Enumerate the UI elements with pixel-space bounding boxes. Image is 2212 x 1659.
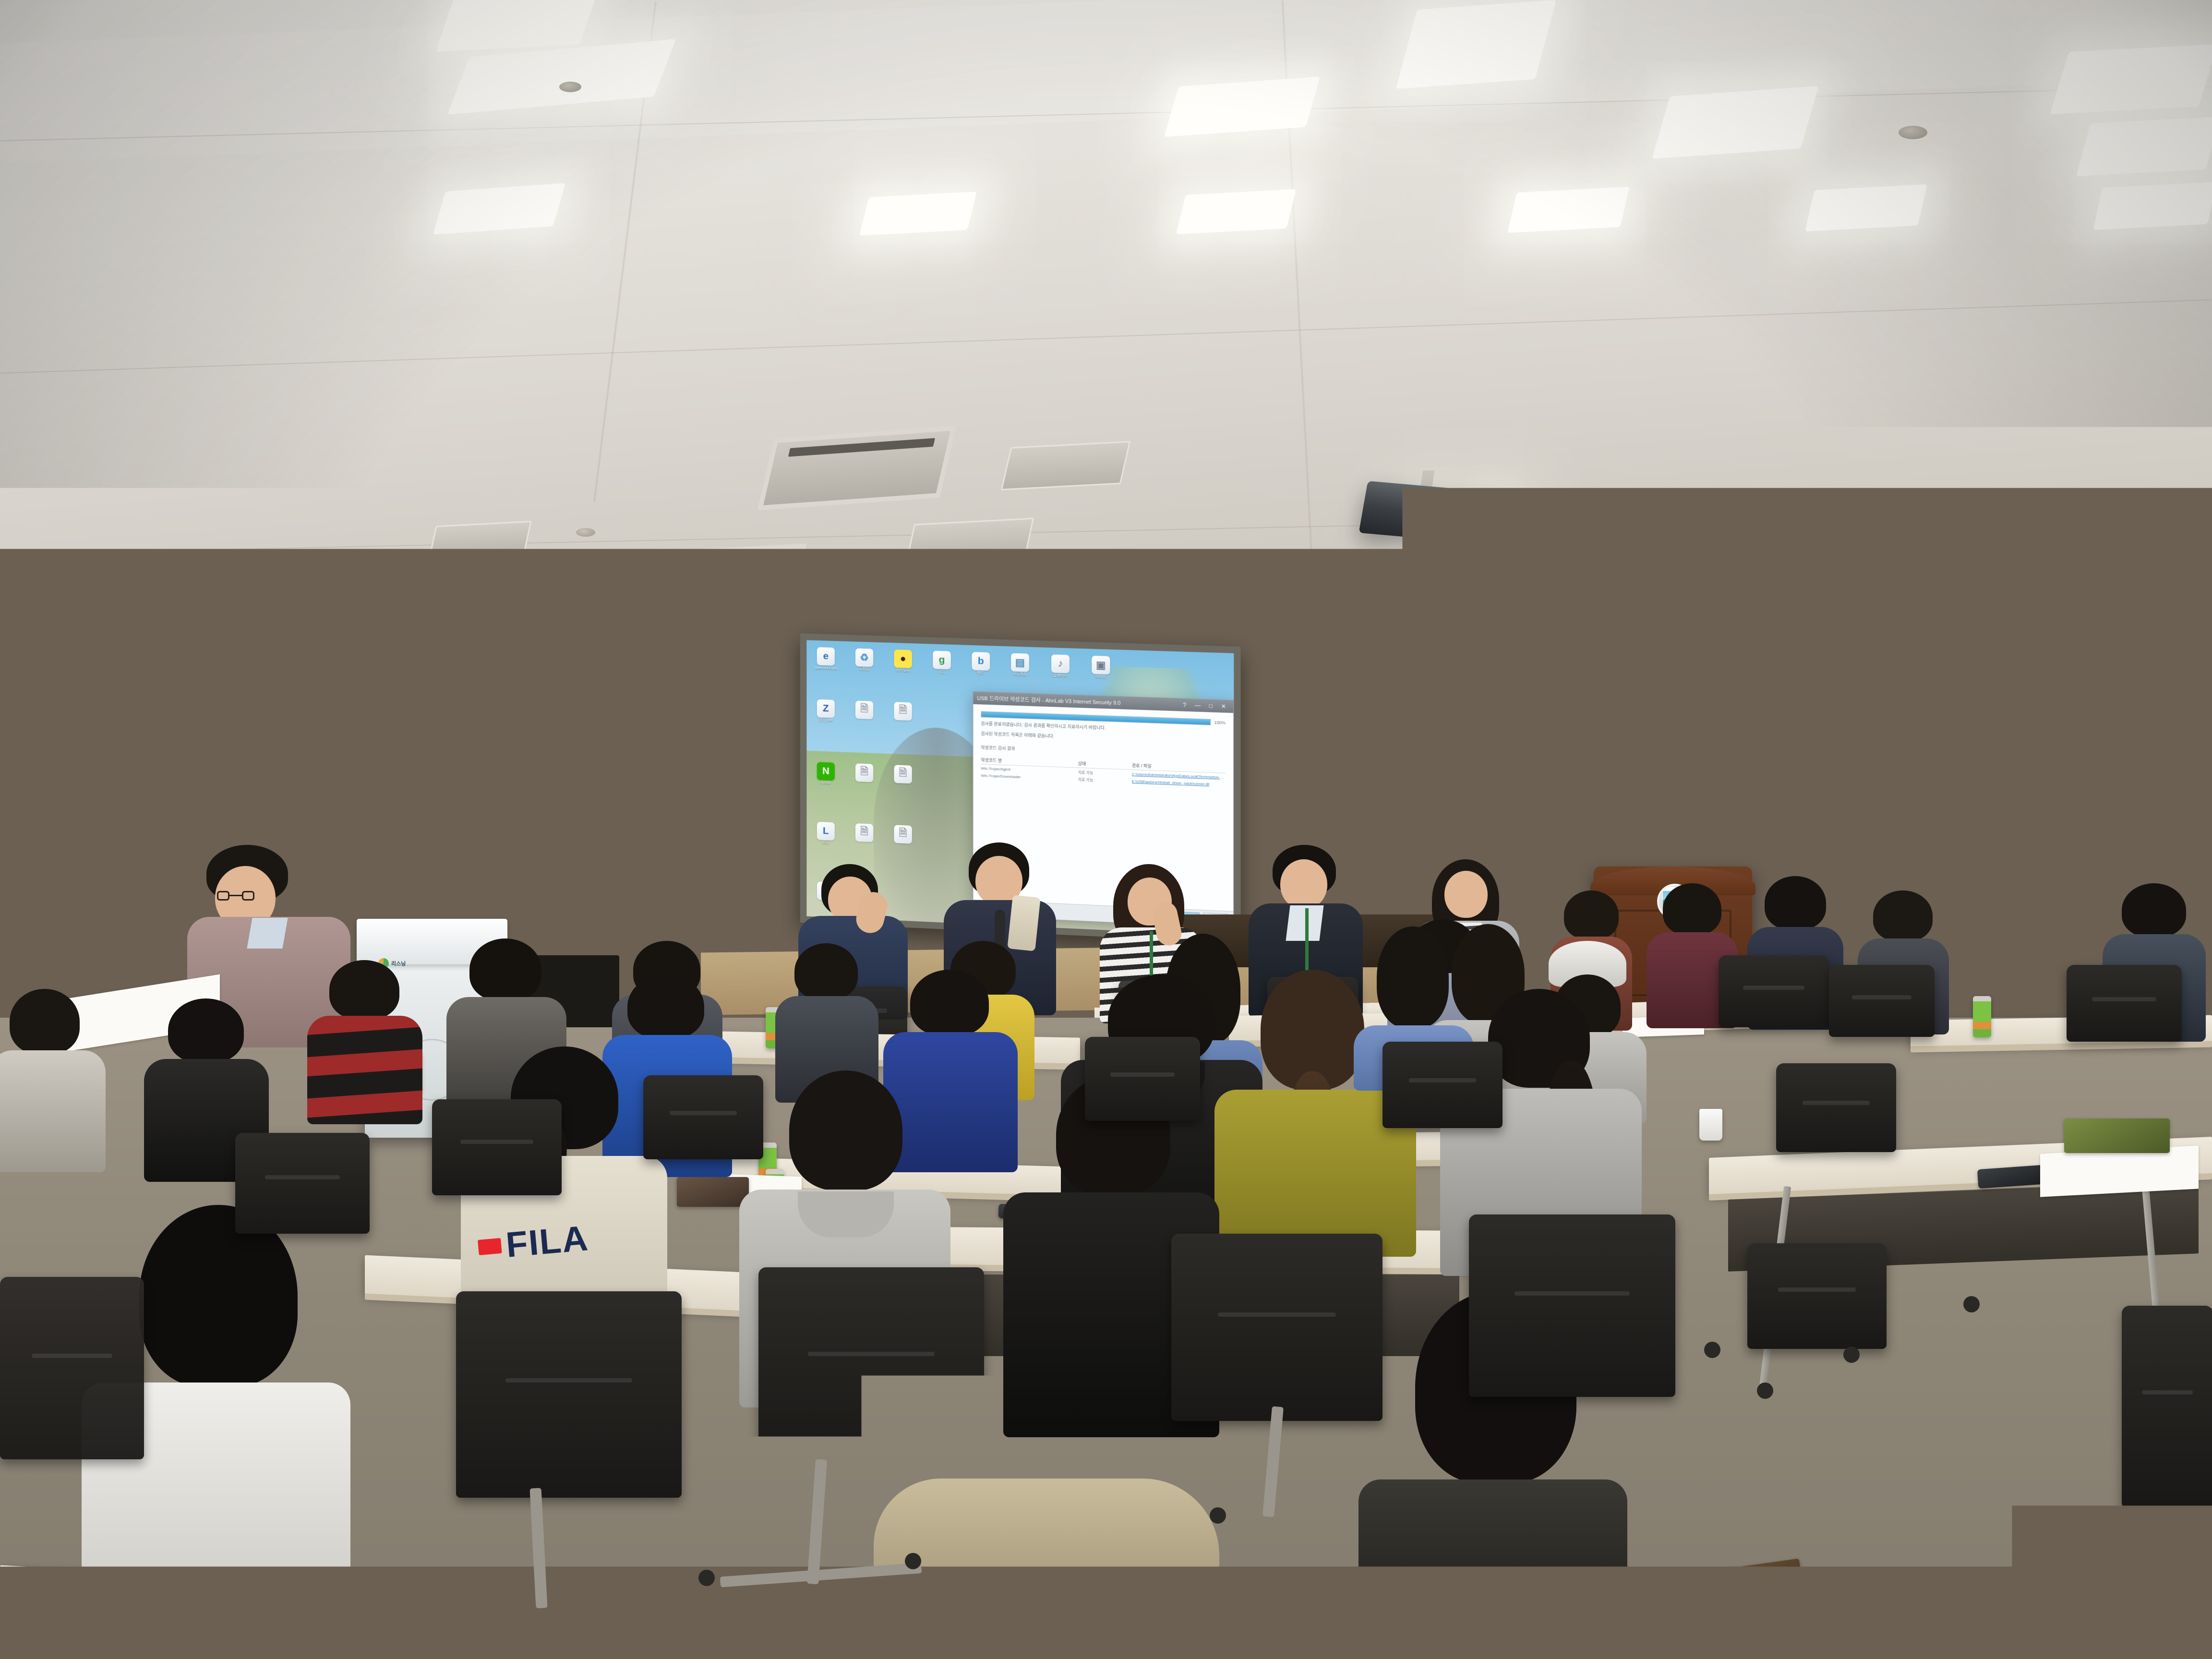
ceiling-air-vent — [1001, 441, 1131, 490]
handout-sheet — [2040, 1145, 2199, 1197]
desktop-icon-label: Internet Explorer — [815, 666, 837, 671]
interior-window — [638, 682, 797, 845]
ceiling-panel-light — [1507, 187, 1629, 233]
chair-caster — [1210, 1507, 1226, 1524]
audience-chair[interactable] — [235, 1133, 370, 1234]
hair — [469, 938, 541, 1001]
hangul-icon: L — [817, 822, 835, 841]
ceiling-air-vent — [428, 521, 531, 560]
chair-caster — [905, 1553, 921, 1569]
face — [1280, 859, 1327, 909]
chair-caster — [1503, 1483, 1519, 1500]
desktop-icon[interactable]: ▣ 이미지 — [1090, 656, 1112, 680]
desktop-icon[interactable]: ▤ 스토리지 — [1009, 653, 1031, 677]
smoke-detector-icon — [1899, 126, 1927, 139]
audience-chair[interactable] — [1829, 965, 1935, 1037]
ceiling-ac-unit — [757, 426, 957, 511]
door-knob-icon[interactable] — [2025, 951, 2036, 962]
desktop-icon[interactable]: e Internet Explorer — [815, 647, 837, 671]
desktop-icon[interactable]: b 밴드 — [970, 652, 992, 676]
desktop-icon-label: 스토리지 — [1009, 672, 1031, 677]
hair — [1564, 890, 1619, 939]
glasses-right-lens-icon — [242, 891, 254, 901]
cell-status: 치료 가능 — [1078, 769, 1132, 777]
storage-icon: ▤ — [1011, 653, 1029, 672]
wall-speaker — [682, 558, 794, 630]
window-controls[interactable]: ? — □ ✕ — [1183, 702, 1229, 710]
desktop-icon-label: 네이버 — [815, 781, 837, 786]
image-viewer-icon: ▣ — [1092, 656, 1110, 674]
audience-member-khaki-coat — [874, 1479, 1219, 1659]
media-player-icon: ♪ — [1051, 654, 1070, 673]
beverage-can — [751, 1596, 776, 1659]
shirt-collar — [1286, 905, 1323, 941]
flag-trigram — [569, 947, 603, 949]
flag-trigram — [573, 832, 601, 834]
col-status: 상태 — [1078, 760, 1132, 768]
window-pane — [647, 762, 714, 837]
desktop-icon-label: 밴드 — [970, 671, 992, 676]
audience-chair[interactable] — [1469, 1214, 1675, 1397]
seminar-room-photo: ↗ — [0, 0, 2212, 1659]
recycle-bin-icon: ♻ — [855, 648, 873, 667]
hair — [10, 989, 80, 1054]
desktop-icon[interactable]: 🗎 — [892, 765, 914, 789]
cell-status: 치료 가능 — [1078, 777, 1132, 784]
wall-seam — [384, 629, 386, 936]
torso — [0, 1050, 106, 1172]
col-name: 악성코드 명 — [981, 757, 1078, 767]
water-bottle — [490, 1579, 517, 1636]
audience-chair[interactable] — [758, 1267, 984, 1469]
audience-chair[interactable] — [1085, 1037, 1200, 1121]
audience-chair[interactable] — [456, 1291, 682, 1498]
ceiling-panel-light — [2050, 44, 2212, 114]
paper-cup — [1699, 1109, 1722, 1141]
ceiling-panel-light — [859, 192, 977, 236]
smoke-detector-icon — [576, 528, 595, 537]
ceiling-panel-light — [435, 0, 599, 52]
hood — [798, 1191, 894, 1238]
hair — [1663, 883, 1721, 935]
hair — [2122, 883, 2186, 937]
torso-coat — [874, 1479, 1219, 1659]
audience-chair[interactable] — [1776, 1063, 1896, 1152]
audience-member — [0, 989, 106, 1171]
cell-path[interactable]: E:\USB\autorun\install_driver_pack\runne… — [1132, 779, 1226, 788]
col-path: 경로 / 파일 — [1132, 762, 1152, 769]
chair-caster — [1843, 1346, 1860, 1363]
chair-caster — [1704, 1342, 1720, 1358]
lanyard — [1305, 908, 1309, 974]
exit-sign: ↗ — [1695, 513, 1732, 556]
desktop-icon-label: 이미지 — [1090, 675, 1112, 680]
window-pane — [647, 690, 714, 755]
glasses-left-lens-icon — [217, 891, 229, 901]
desktop-icon-label: 카카오톡 — [892, 669, 914, 673]
shirt-collar — [247, 918, 288, 949]
desktop-icon[interactable]: 🗎 — [854, 763, 875, 787]
chair-caster — [451, 1594, 468, 1610]
kakaotalk-icon: ● — [894, 649, 912, 668]
desktop-icon[interactable]: ♪ 플레이어 — [1049, 654, 1071, 678]
flag-trigram — [569, 937, 584, 939]
smoke-detector-icon — [559, 82, 581, 92]
audience-chair[interactable] — [432, 1099, 562, 1195]
ceiling-air-vent — [1002, 590, 1110, 629]
projector-grill — [1443, 495, 1501, 532]
bottle-cap — [495, 1569, 510, 1582]
flag-taeguk-icon — [569, 852, 617, 913]
desktop-icon[interactable]: 🗎 — [854, 700, 875, 724]
hair — [329, 960, 399, 1020]
hair — [1377, 926, 1449, 1028]
audience-chair[interactable] — [1719, 955, 1829, 1027]
band-icon: b — [972, 652, 990, 671]
hair — [1873, 890, 1933, 941]
ceiling-panel-light — [1652, 86, 1818, 159]
hair — [789, 1070, 902, 1190]
exit-arrow-icon: ↗ — [1699, 519, 1727, 550]
beverage-can — [629, 1603, 653, 1659]
ceiling-panel-light — [2093, 182, 2212, 230]
window-pane — [721, 690, 786, 755]
desktop-icon[interactable]: N 네이버 — [815, 762, 837, 786]
desktop-icon[interactable]: ● 카카오톡 — [892, 649, 914, 673]
projector-keypad — [1404, 495, 1438, 527]
zip-icon: Z — [817, 699, 835, 718]
alzip-icon: g — [933, 651, 951, 670]
ceiling-panel-light — [1176, 189, 1296, 234]
ceiling-air-vent — [905, 517, 1034, 565]
hair — [168, 998, 244, 1063]
door-plate — [2138, 802, 2163, 819]
desktop-icon-label: 플레이어 — [1049, 673, 1071, 678]
hair — [627, 974, 704, 1039]
desktop-icon[interactable]: g 알집 — [931, 650, 952, 674]
chair-caster — [1963, 1296, 1980, 1312]
torso — [1358, 1479, 1627, 1659]
audience-chair[interactable] — [1747, 1243, 1887, 1349]
torso-striped-red — [307, 1016, 422, 1124]
audience-chair[interactable] — [2067, 965, 2182, 1042]
naver-icon: N — [817, 762, 835, 781]
desktop-icon-label: 휴지통 — [854, 667, 875, 672]
desktop-icon-label: 알집 ZIP — [815, 718, 837, 723]
chair-caster — [698, 1570, 715, 1586]
door-plate — [1989, 807, 2012, 824]
desktop-icon[interactable]: 🗎 — [854, 823, 875, 847]
desktop-icon[interactable]: Z 알집 ZIP — [815, 699, 837, 723]
desktop-icon[interactable]: 🗎 — [892, 825, 914, 849]
snack-packet — [677, 1177, 749, 1207]
beverage-can — [816, 1589, 843, 1659]
internet-explorer-icon: e — [817, 647, 835, 666]
desktop-icon[interactable]: L 한글 — [815, 822, 837, 846]
hair — [1765, 876, 1826, 930]
ceiling-panel-light — [2076, 117, 2212, 176]
fila-logo-text: FILA — [505, 1220, 590, 1263]
face — [1444, 871, 1488, 918]
audience-member — [307, 960, 422, 1123]
audience-chair[interactable] — [2122, 1306, 2212, 1507]
desktop-icon[interactable]: ♻ 휴지통 — [854, 648, 875, 672]
ceiling-panel-light — [1805, 184, 1927, 231]
fila-logo-mark-icon — [478, 1238, 502, 1255]
snack-packet — [2064, 1118, 2170, 1153]
cell-name: Win-Trojan/Downloader — [981, 773, 1078, 782]
progress-label: 100% — [1214, 720, 1225, 725]
ceiling-panel-light — [1396, 0, 1556, 89]
beverage-can — [1973, 996, 1991, 1037]
audience-chair[interactable] — [0, 1277, 144, 1459]
glasses-bridge-icon — [229, 895, 243, 896]
audience-chair[interactable] — [1171, 1234, 1382, 1421]
curtain-left — [62, 616, 202, 1012]
beverage-can — [30, 1605, 57, 1659]
hair — [910, 970, 989, 1036]
window-pane — [721, 762, 786, 837]
audience-chair[interactable] — [1382, 1042, 1503, 1128]
hair — [794, 943, 858, 1000]
desktop-icon[interactable]: 🗎 — [892, 702, 914, 726]
flag-trigram — [588, 937, 603, 939]
desktop-icon-label: 알집 — [931, 670, 952, 674]
audience-chair[interactable] — [643, 1075, 763, 1159]
table-caster — [1757, 1382, 1773, 1399]
